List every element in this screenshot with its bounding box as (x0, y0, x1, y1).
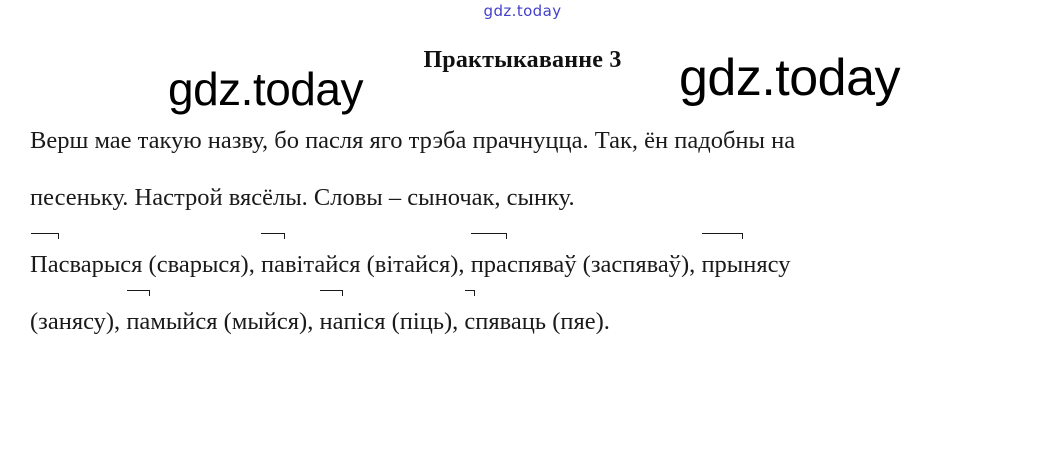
prefix-mark-spiavac: с (464, 293, 475, 350)
word-rest-pasvarysia: сварыся (сварыся), (59, 251, 261, 278)
answer-paragraph-2: Пасварыся (сварыся), павітайся (вітайся)… (30, 236, 1015, 350)
answer-paragraph-1: Верш мае такую назву, бо пасля яго трэба… (30, 112, 1015, 226)
word-rest-pamyjsia: мыйся (мыйся), (150, 308, 319, 335)
prefix-mark-pavitajsia: па (261, 236, 285, 293)
prefix-mark-praspiavau: пра (471, 236, 507, 293)
paragraph-1-line-2: песеньку. Настрой вясёлы. Словы – сыноча… (30, 169, 1015, 226)
prefix-mark-pasvarysia: Па (30, 236, 59, 293)
word-zanyasu: (занясу), (30, 308, 126, 335)
word-rest-prynyasu: нясу (743, 251, 790, 278)
word-rest-spiavac: пяваць (пяе). (475, 308, 610, 335)
prefix-mark-napisia: на (319, 293, 343, 350)
watermark-large-left: gdz.today (168, 66, 363, 112)
document-page: gdz.today Практыкаванне 3 gdz.today gdz.… (0, 0, 1045, 470)
paragraph-2-line-2: (занясу), памыйся (мыйся), напіся (піць)… (30, 293, 1015, 350)
word-rest-napisia: піся (піць), (343, 308, 464, 335)
word-rest-pavitajsia: вітайся (вітайся), (285, 251, 471, 278)
prefix-mark-pamyjsia: па (126, 293, 150, 350)
word-rest-praspiavau: спяваў (заспяваў), (507, 251, 702, 278)
paragraph-1-line-1: Верш мае такую назву, бо пасля яго трэба… (30, 112, 1015, 169)
watermark-top: gdz.today (0, 2, 1045, 20)
prefix-mark-prynyasu: пры (701, 236, 743, 293)
watermark-large-right: gdz.today (679, 52, 900, 104)
paragraph-2-line-1: Пасварыся (сварыся), павітайся (вітайся)… (30, 236, 1015, 293)
